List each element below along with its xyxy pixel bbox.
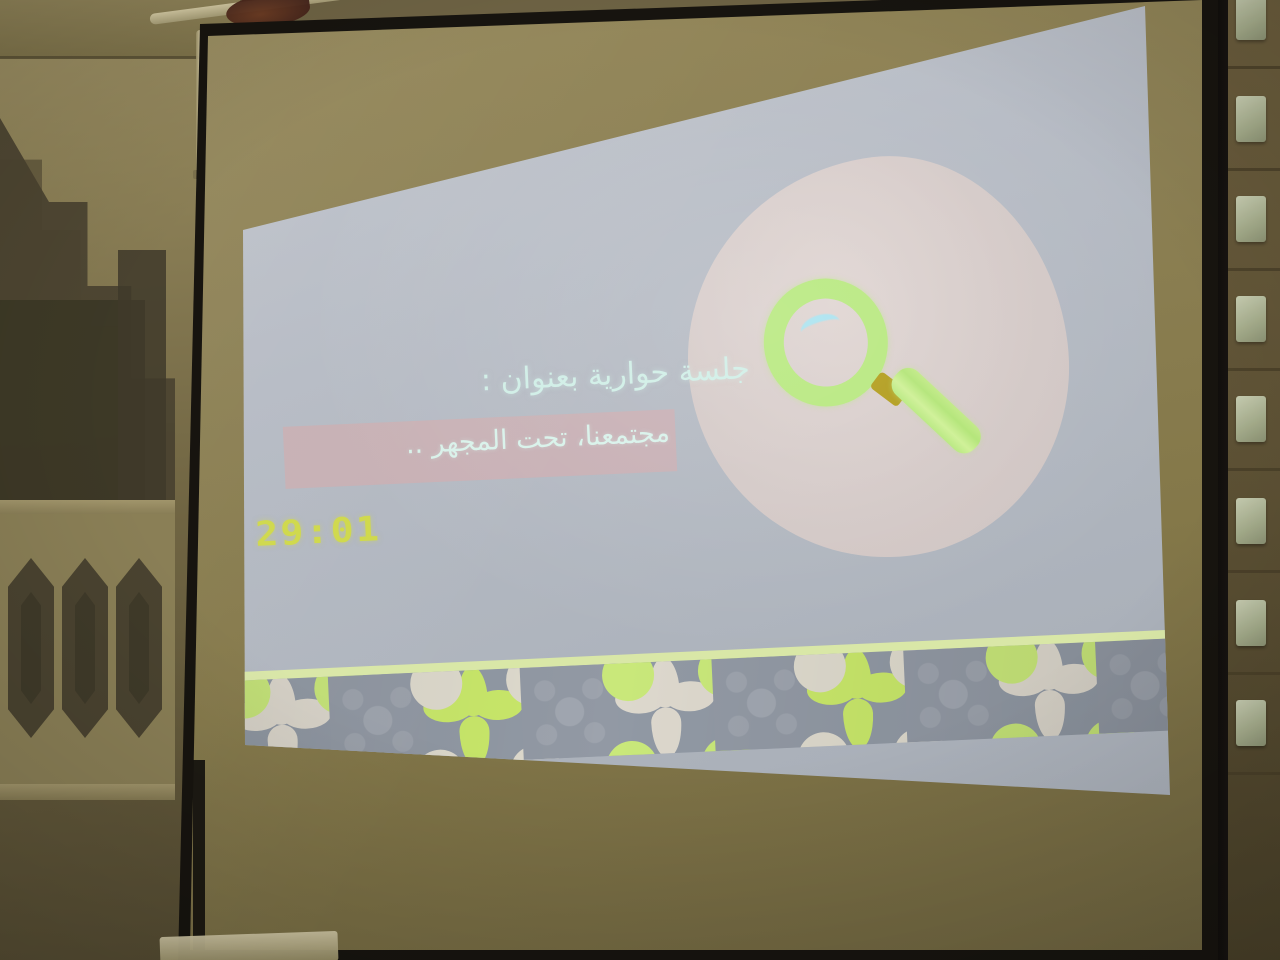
wall-course-line [1228, 772, 1280, 775]
balustrade-slot [129, 592, 149, 704]
quatrefoil-petal [842, 698, 874, 749]
wall-course-line [1228, 268, 1280, 271]
ornament-tile-flower [999, 642, 1099, 738]
glass-block [1236, 0, 1266, 40]
quatrefoil-petal [651, 707, 683, 758]
glass-block [1236, 600, 1266, 646]
balustrade-slot [75, 592, 95, 704]
right-wall [1228, 0, 1280, 960]
screenshot-stage: جلسة حوارية بعنوان : مجتمعنا، تحت المجهر… [0, 0, 1280, 960]
screen-stand-pole [193, 760, 205, 950]
glass-block [1236, 196, 1266, 242]
glass-block [1236, 498, 1266, 544]
screen-stand-base [160, 931, 339, 960]
magnifying-glass-icon [750, 258, 1010, 518]
glass-block [1236, 700, 1266, 746]
wall-course-line [1228, 66, 1280, 69]
balustrade-slot [21, 592, 41, 704]
wall-course-line [1228, 468, 1280, 471]
balustrade-panel [0, 514, 175, 786]
ornament-tile-flower [807, 651, 907, 747]
ornament-tile-flower [616, 659, 716, 755]
quatrefoil-motif [807, 651, 907, 747]
slide-counter: 29:01 [254, 509, 382, 555]
doorway-opening [118, 250, 166, 520]
glass-block [1236, 96, 1266, 142]
quatrefoil-petal [1034, 689, 1066, 740]
quatrefoil-motif [424, 668, 524, 764]
glass-block [1236, 396, 1266, 442]
quatrefoil-motif [999, 642, 1099, 738]
glass-block [1236, 296, 1266, 342]
wall-course-line [1228, 368, 1280, 371]
wall-course-line [1228, 570, 1280, 573]
balustrade-bottom-rail [0, 784, 175, 800]
wall-course-line [1228, 168, 1280, 171]
wall-course-line [1228, 672, 1280, 675]
magnifier-lens-ring [758, 273, 893, 411]
quatrefoil-corner-accent [989, 722, 1043, 773]
quatrefoil-motif [616, 659, 716, 755]
balustrade [0, 500, 175, 800]
ornament-tile-flower [424, 668, 524, 764]
magnifier-handle [886, 362, 987, 459]
